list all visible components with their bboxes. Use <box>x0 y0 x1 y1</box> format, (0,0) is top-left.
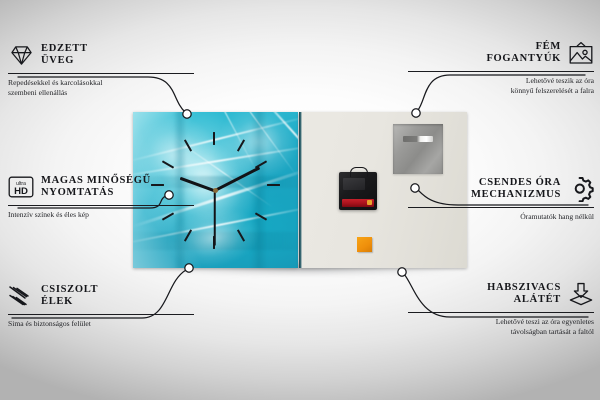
feature-description: Sima és biztonságos felület <box>8 319 194 329</box>
feature-header: CSISZOLT ÉLEK <box>8 281 194 311</box>
feature-title: MAGAS MINŐSÉGŰ NYOMTATÁS <box>41 175 151 199</box>
ultra-hd-icon: ultra HD <box>8 174 34 200</box>
feature-header: EDZETT ÜVEG <box>8 40 194 70</box>
metal-hanger-plate <box>393 124 443 174</box>
feature-header: HABSZIVACS ALÁTÉT <box>408 279 594 309</box>
diamond-icon <box>8 42 34 68</box>
feature-title: HABSZIVACS ALÁTÉT <box>487 282 561 306</box>
battery <box>342 199 374 207</box>
foam-pad-arrow-icon <box>568 281 594 307</box>
polished-edge-icon <box>8 283 34 309</box>
feature-header: ultra HD MAGAS MINŐSÉGŰ NYOMTATÁS <box>8 172 194 202</box>
mechanism-housing <box>343 178 365 190</box>
glass-edge <box>299 112 302 268</box>
feature-divider <box>8 314 194 315</box>
feature-description: Lehetővé teszi az óra egyenletes távolsá… <box>408 317 594 338</box>
feature-metal-hooks: FÉM FOGANTYÚK Lehetővé teszik az óra kön… <box>408 38 594 97</box>
feature-silent-mechanism: CSENDES ÓRA MECHANIZMUS Óramutatók hang … <box>408 174 594 222</box>
infographic-canvas: EDZETT ÜVEG Repedésekkel és karcolásokka… <box>0 0 600 400</box>
hand-centre-cap <box>213 188 218 193</box>
feature-foam-pad: HABSZIVACS ALÁTÉT Lehetővé teszi az óra … <box>408 279 594 338</box>
feature-description: Intenzív színek és éles kép <box>8 210 194 220</box>
feature-title: FÉM FOGANTYÚK <box>486 41 561 65</box>
feature-divider <box>8 73 194 74</box>
hanger-slot <box>403 136 433 142</box>
feature-high-quality-print: ultra HD MAGAS MINŐSÉGŰ NYOMTATÁS Intenz… <box>8 172 194 220</box>
feature-divider <box>8 205 194 206</box>
feature-description: Lehetővé teszik az óra könnyű felszerelé… <box>408 76 594 97</box>
feature-divider <box>408 312 594 313</box>
gear-icon <box>568 176 594 202</box>
feature-title: CSISZOLT ÉLEK <box>41 284 98 308</box>
battery-terminal <box>367 200 372 205</box>
feature-header: CSENDES ÓRA MECHANIZMUS <box>408 174 594 204</box>
feature-description: Repedésekkel és karcolásokkal szembeni e… <box>8 78 194 99</box>
second-hand <box>214 190 216 246</box>
feature-title: CSENDES ÓRA MECHANIZMUS <box>471 177 561 201</box>
feature-description: Óramutatók hang nélkül <box>408 212 594 222</box>
foam-spacer-pad <box>357 237 372 252</box>
hour-marker <box>213 132 215 145</box>
feature-divider <box>408 207 594 208</box>
picture-hanger-icon <box>568 40 594 66</box>
feature-title: EDZETT ÜVEG <box>41 43 88 67</box>
clock-mechanism <box>339 172 377 210</box>
mechanism-hanging-loop <box>350 167 368 177</box>
feature-divider <box>408 71 594 72</box>
feature-polished-edges: CSISZOLT ÉLEK Sima és biztonságos felüle… <box>8 281 194 329</box>
feature-tempered-glass: EDZETT ÜVEG Repedésekkel és karcolásokka… <box>8 40 194 99</box>
svg-text:HD: HD <box>14 186 28 197</box>
feature-header: FÉM FOGANTYÚK <box>408 38 594 68</box>
